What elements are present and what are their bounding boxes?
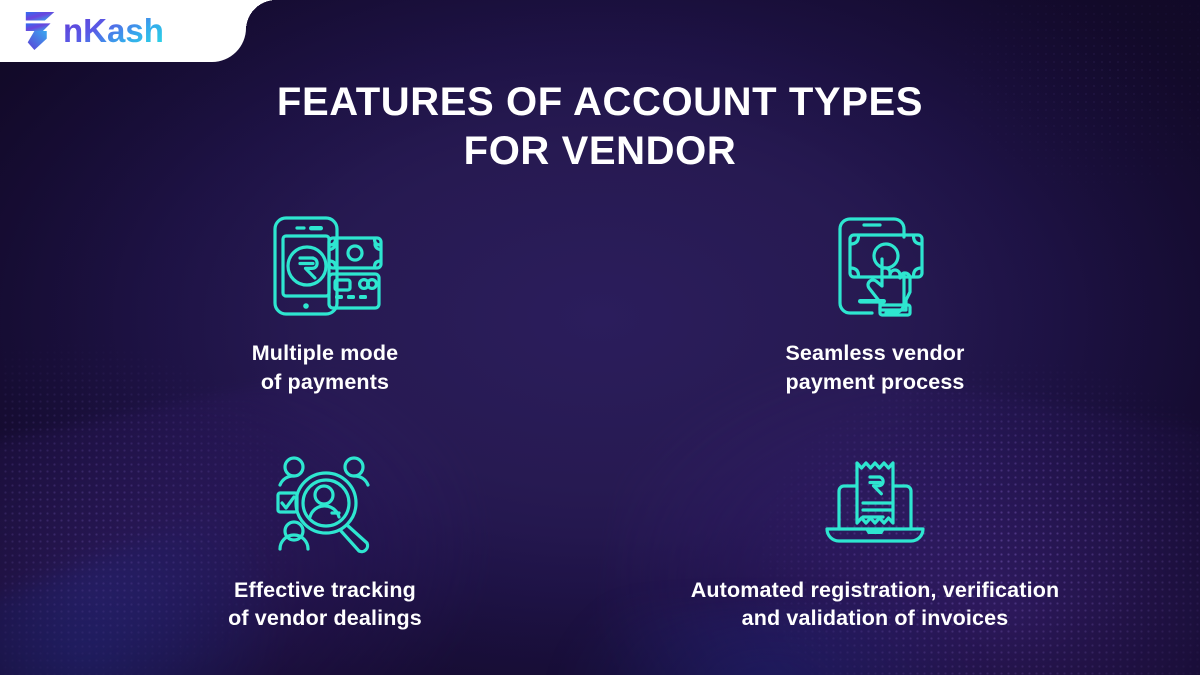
feature-icon-slot xyxy=(823,442,927,564)
feature-multiple-mode-of-payments[interactable]: Multiple mode of payments xyxy=(60,205,590,424)
svg-text:nKash: nKash xyxy=(63,12,164,49)
logo-tab[interactable]: nKash xyxy=(0,0,246,62)
feature-caption: Automated registration, verification and… xyxy=(691,576,1060,633)
laptop-invoice-icon xyxy=(823,453,927,553)
feature-icon-slot xyxy=(270,442,380,564)
feature-effective-tracking-of-vendor-dealings[interactable]: Effective tracking of vendor dealings xyxy=(60,442,590,661)
feature-caption: Multiple mode of payments xyxy=(252,339,398,396)
enkash-rupee-mark-icon xyxy=(22,10,62,52)
page-title: FEATURES OF ACCOUNT TYPES FOR VENDOR xyxy=(0,78,1200,176)
feature-icon-slot xyxy=(263,205,387,327)
people-search-tracking-icon xyxy=(270,451,380,555)
slide-canvas: nKash FEATURES OF ACCOUNT TYPES FOR VEND… xyxy=(0,0,1200,675)
feature-automated-registration-verification-validation[interactable]: Automated registration, verification and… xyxy=(610,442,1140,661)
feature-caption: Effective tracking of vendor dealings xyxy=(228,576,422,633)
page-title-line-2: FOR VENDOR xyxy=(0,127,1200,176)
feature-seamless-vendor-payment-process[interactable]: Seamless vendor payment process xyxy=(610,205,1140,424)
brand-logo[interactable]: nKash xyxy=(22,10,211,52)
features-grid: Multiple mode of payments Seamless v xyxy=(60,205,1140,660)
mobile-payment-modes-icon xyxy=(263,214,387,318)
enkash-wordmark: nKash xyxy=(63,11,211,51)
feature-caption: Seamless vendor payment process xyxy=(785,339,964,396)
mobile-tap-payment-icon xyxy=(822,213,928,319)
feature-icon-slot xyxy=(822,205,928,327)
page-title-line-1: FEATURES OF ACCOUNT TYPES xyxy=(0,78,1200,127)
